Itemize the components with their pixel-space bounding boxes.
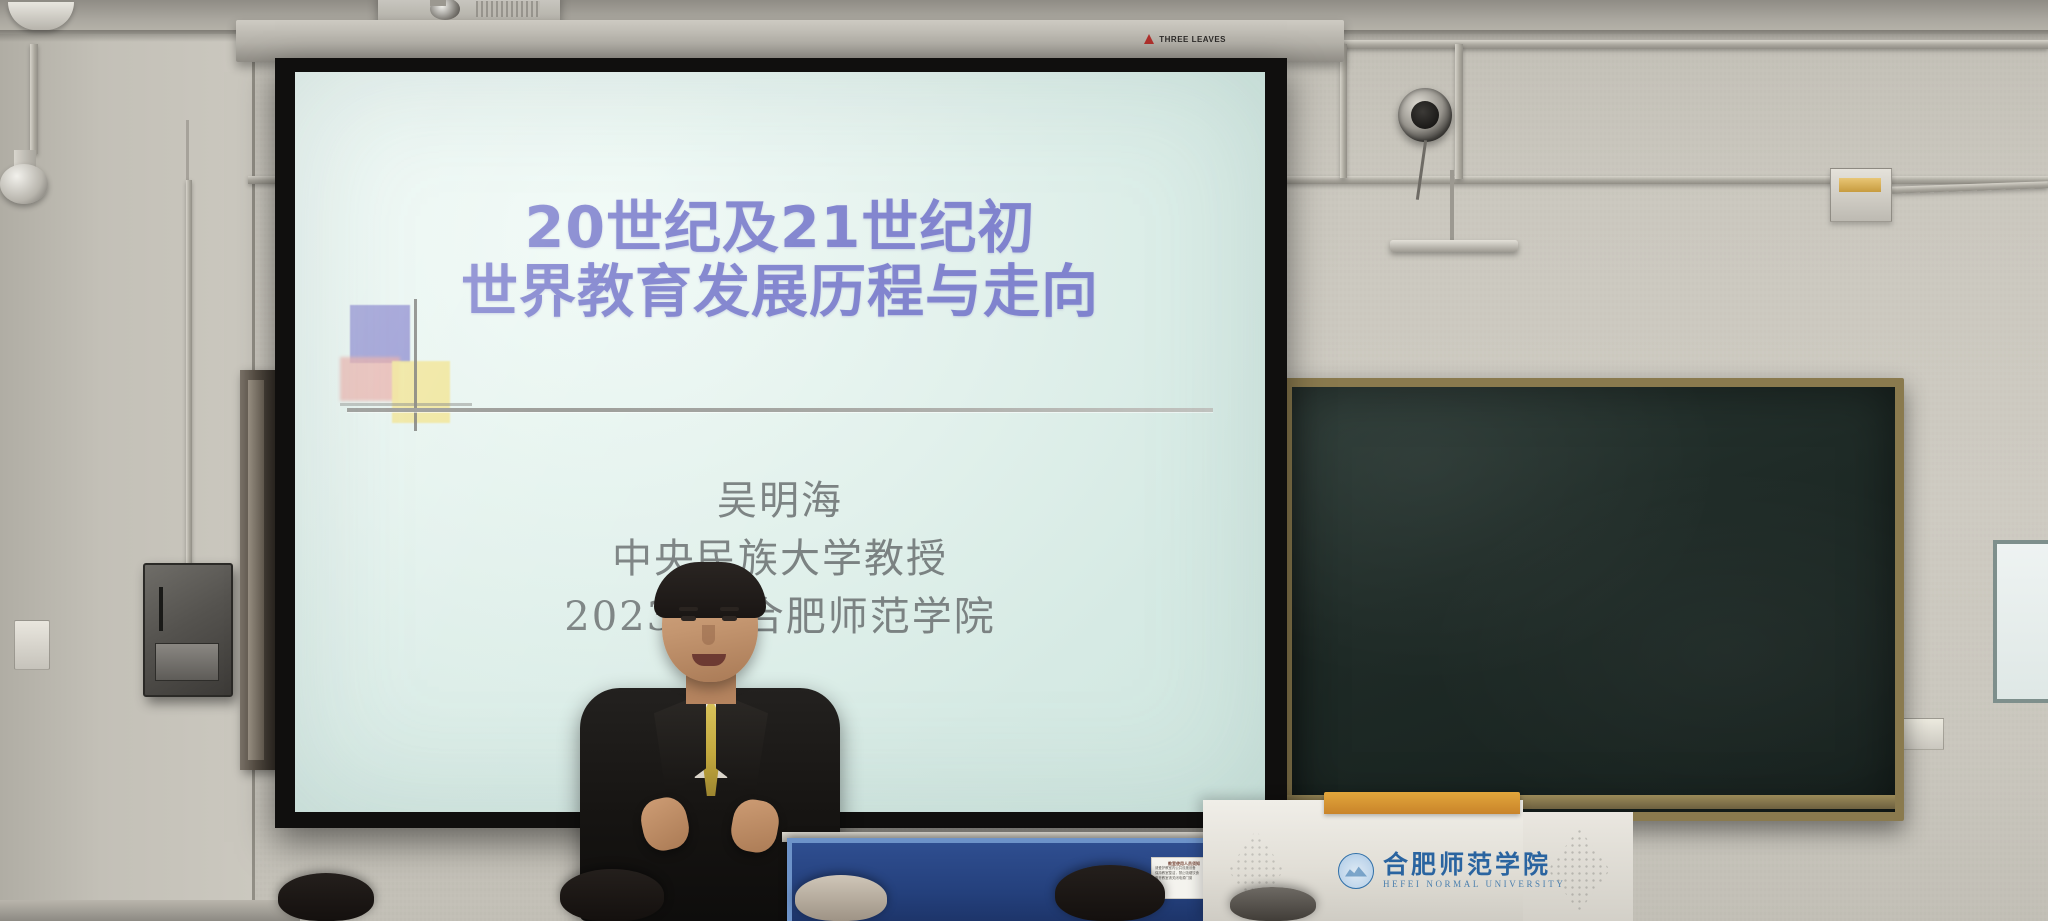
screen-brand-logo: THREE LEAVES bbox=[1144, 34, 1226, 44]
slide-title-line-2: 世界教育发展历程与走向 bbox=[295, 260, 1265, 324]
audience-head bbox=[1230, 887, 1316, 921]
university-name-cn: 合肥师范学院 bbox=[1383, 852, 1565, 878]
university-logo: 合肥师范学院 HEFEI NORMAL UNIVERSITY bbox=[1338, 852, 1565, 889]
light-switch[interactable] bbox=[14, 620, 50, 670]
audience-head bbox=[795, 875, 887, 921]
screen-brand-text: THREE LEAVES bbox=[1159, 35, 1226, 44]
blackboard bbox=[1283, 378, 1904, 821]
university-seal-icon bbox=[1338, 853, 1374, 889]
podium-top-trim bbox=[1324, 792, 1520, 814]
deco-cross-horizontal bbox=[340, 403, 472, 406]
junction-box-indicator bbox=[1839, 178, 1881, 192]
presenter-brow-right bbox=[720, 607, 739, 611]
light-stem bbox=[1450, 170, 1454, 242]
audience-head bbox=[560, 869, 664, 921]
control-box-plate bbox=[155, 643, 219, 681]
power-outlet[interactable] bbox=[1900, 718, 1944, 750]
wall-control-box[interactable] bbox=[143, 563, 233, 697]
speaker-cone-icon bbox=[1411, 101, 1439, 129]
screen-side-rail-inner bbox=[248, 380, 264, 760]
mitsubishi-triangle-icon bbox=[1144, 34, 1155, 44]
deco-square-pink bbox=[340, 357, 400, 401]
presenter-brow-left bbox=[679, 607, 698, 611]
slide-author-name: 吴明海 bbox=[295, 472, 1265, 530]
projector-mount bbox=[430, 0, 446, 6]
wall-conduit-vertical-a bbox=[1455, 44, 1463, 179]
slide-title-block: 20世纪及21世纪初 世界教育发展历程与走向 bbox=[295, 196, 1265, 324]
wall-light-bar bbox=[1390, 240, 1518, 252]
wall-conduit-vertical-c bbox=[30, 44, 38, 154]
wall-conduit-vertical-b bbox=[1340, 44, 1347, 178]
presenter-eye-left bbox=[681, 616, 696, 621]
ceiling-speaker bbox=[1398, 88, 1452, 142]
slide-title-line-1: 20世纪及21世纪初 bbox=[295, 196, 1265, 260]
projection-screen-housing: THREE LEAVES bbox=[236, 20, 1344, 62]
audience-head bbox=[278, 873, 374, 921]
junction-box[interactable] bbox=[1830, 168, 1892, 222]
chalk-dust bbox=[1292, 387, 1895, 812]
university-name-group: 合肥师范学院 HEFEI NORMAL UNIVERSITY bbox=[1383, 852, 1565, 889]
slide-divider-rule bbox=[347, 408, 1213, 412]
projector-vent bbox=[476, 1, 540, 17]
audience-head bbox=[1055, 865, 1165, 921]
front-table bbox=[0, 900, 300, 921]
deco-square-yellow bbox=[392, 361, 450, 423]
lecture-hall-photo: THREE LEAVES 20世纪及21世纪初 世界教育发展历程与走向 吴明海 … bbox=[0, 0, 2048, 921]
presenter-nose bbox=[702, 625, 715, 645]
university-name-en: HEFEI NORMAL UNIVERSITY bbox=[1383, 879, 1565, 889]
wall-notice-frame bbox=[1993, 540, 2048, 703]
camera-dome-icon bbox=[0, 164, 48, 204]
control-box-slot bbox=[159, 587, 163, 631]
wall-left-panel bbox=[0, 0, 255, 921]
presenter-hair bbox=[654, 562, 766, 618]
security-camera bbox=[0, 150, 52, 206]
presenter-eye-right bbox=[722, 616, 737, 621]
